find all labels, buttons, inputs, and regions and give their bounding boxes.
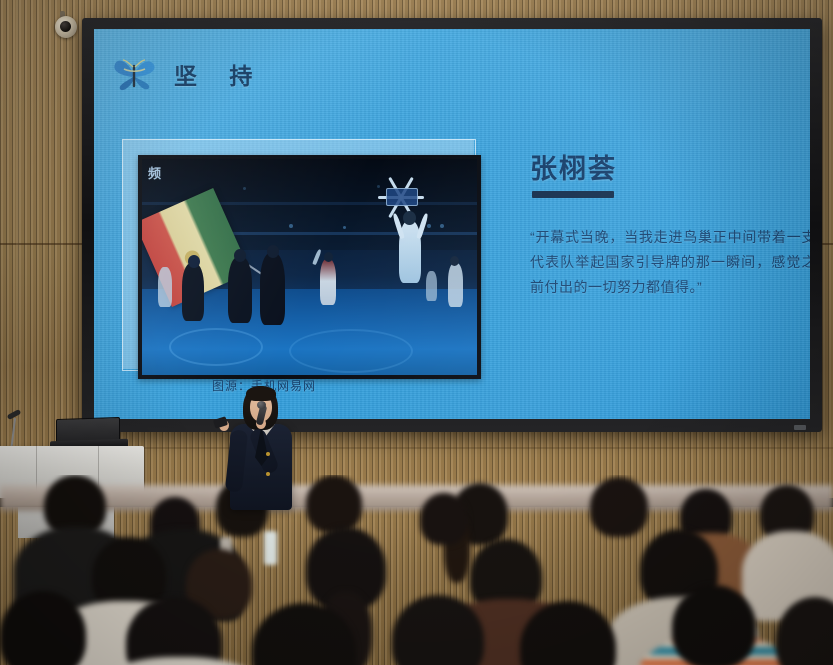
name-underline-rule — [532, 191, 614, 198]
delegation-member — [228, 257, 252, 323]
screenshot-root: 坚 持 — [0, 0, 833, 665]
microphone-head-icon — [257, 401, 266, 409]
butterfly-icon — [112, 55, 158, 93]
wall-speaker-icon — [55, 16, 77, 38]
athlete-name: 张栩荟 — [530, 147, 617, 186]
audience — [0, 475, 833, 665]
delegation-member-head — [267, 245, 279, 258]
speaker-fringe — [246, 386, 276, 401]
crowd-light — [427, 224, 431, 228]
crowd-light — [440, 224, 444, 228]
blazer-button — [266, 452, 270, 456]
athlete-quote: “开幕式当晚，当我走进鸟巢正中间带着一支代表队举起国家引导牌的那一瞬间，感觉之前… — [530, 225, 810, 300]
audience-head — [420, 493, 468, 545]
display-indicator-light — [794, 425, 806, 430]
slide-photo-frame: 频 — [138, 155, 481, 379]
flag-bearer — [182, 263, 204, 321]
floor-projection — [289, 329, 413, 373]
delegation-member — [260, 253, 285, 325]
waving-arm — [312, 249, 322, 265]
olympic-ceremony-photo: 频 — [142, 159, 477, 375]
delegation-member — [448, 263, 463, 307]
blazer-button — [266, 472, 270, 476]
presentation-display[interactable]: 坚 持 — [82, 18, 822, 432]
audience-head — [306, 475, 362, 533]
delegation-member-head — [450, 256, 459, 266]
delegation-member — [426, 271, 437, 301]
crowd-light — [243, 187, 246, 190]
crowd-light — [343, 226, 346, 229]
delegation-member — [158, 267, 172, 307]
delegation-member-head — [234, 249, 246, 262]
audience-head — [590, 477, 648, 537]
slide-brand: 坚 持 — [112, 55, 265, 93]
delegation-member-head — [324, 252, 333, 262]
photo-watermark: 频 — [148, 163, 161, 182]
display-screen: 坚 持 — [94, 29, 810, 419]
water-bottle — [264, 531, 277, 565]
placard-bearer-head — [403, 211, 416, 225]
audience-head — [672, 585, 756, 665]
flag-bearer-head — [188, 255, 200, 268]
delegation-member — [320, 259, 336, 305]
slide-title: 坚 持 — [174, 57, 265, 91]
snowflake-placard — [377, 173, 425, 221]
